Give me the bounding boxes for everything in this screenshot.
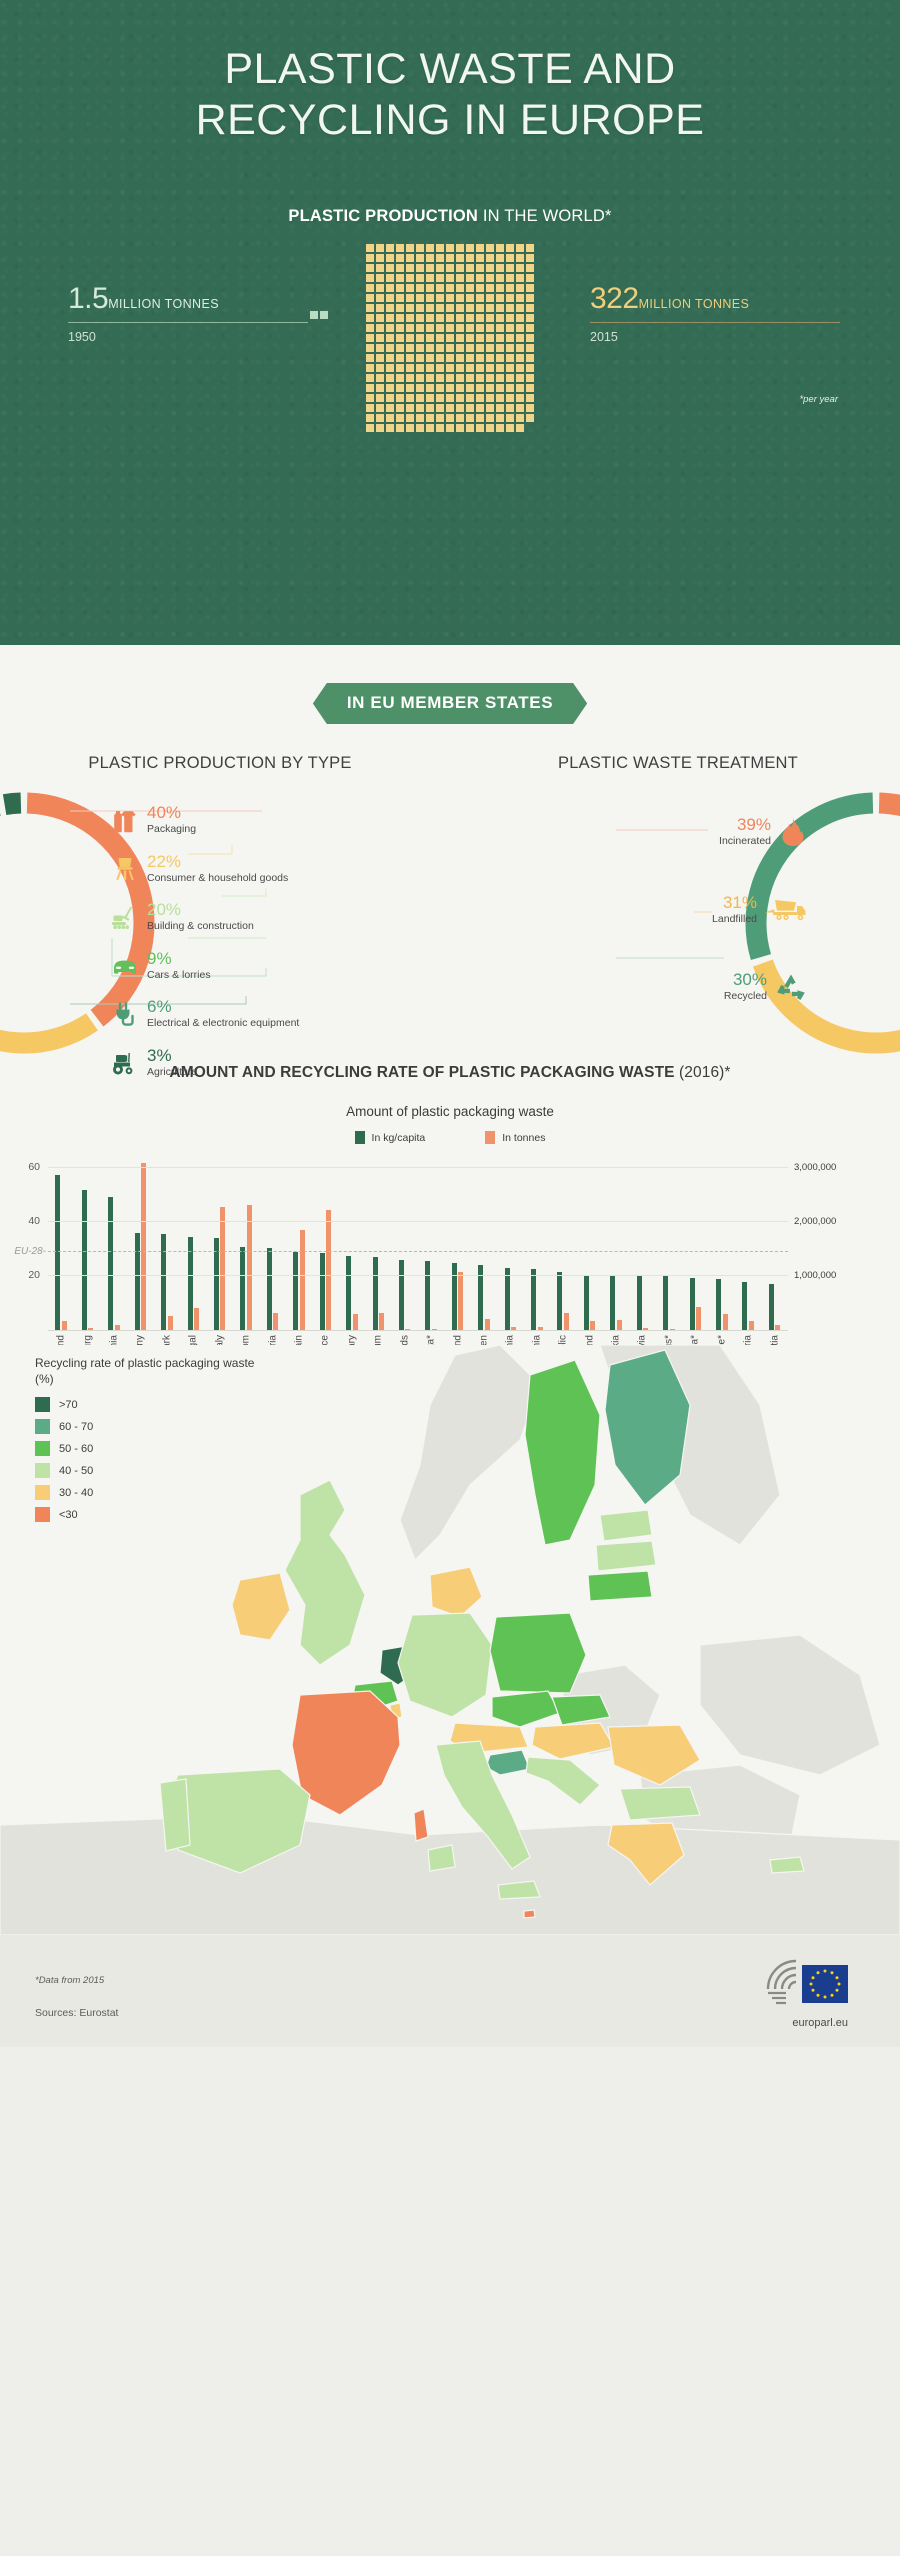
map-country-latvia [596, 1541, 656, 1571]
legend-text-landfilled: 31% Landfilled [712, 894, 757, 926]
chart-bar-group [471, 1156, 497, 1330]
map-legend-label: 60 - 70 [59, 1421, 93, 1433]
y-axis-tick-right: 2,000,000 [794, 1216, 894, 1227]
plastic-production-comparison: 1.5MILLION TONNES 1950 322MILLION TONNES… [0, 244, 900, 424]
map-legend-swatch [35, 1419, 50, 1434]
map-country-sicily [498, 1881, 540, 1899]
bottle-bag-icon [110, 805, 140, 835]
chart-plot-area: 204060EU-28- 1,000,0002,000,0003,000,000… [0, 1156, 900, 1331]
divider-right [590, 322, 840, 323]
legend-text-recycled: 30% Recycled [724, 971, 767, 1003]
bar-tonnes [485, 1319, 490, 1330]
map-country-estonia [600, 1510, 652, 1541]
chart-bar-group [444, 1156, 470, 1330]
chart-bar-group [629, 1156, 655, 1330]
bar-tonnes [247, 1205, 252, 1330]
map-legend-swatch [35, 1485, 50, 1500]
bar-kg-per-capita [769, 1284, 774, 1330]
production-by-type-title: PLASTIC PRODUCTION BY TYPE [0, 754, 450, 773]
map-legend-item: <30 [35, 1507, 265, 1522]
y-axis-tick-left: 60 [0, 1161, 40, 1177]
chair-icon [110, 853, 140, 883]
bar-kg-per-capita [452, 1263, 457, 1330]
chart-bar-group [550, 1156, 576, 1330]
bar-tonnes [326, 1210, 331, 1330]
map-legend-item: 30 - 40 [35, 1485, 265, 1500]
production-1950-unit: MILLION TONNES [108, 297, 219, 311]
bar-kg-per-capita [267, 1248, 272, 1330]
legend-item-cars: 9% Cars & lorries [110, 950, 410, 982]
chart-bar-group [180, 1156, 206, 1330]
chart-plot [48, 1156, 788, 1331]
legend-label-electrical: Electrical & electronic equipment [147, 1017, 299, 1030]
map-legend-swatch [35, 1463, 50, 1478]
bar-tonnes [88, 1328, 93, 1330]
chart-title-main: AMOUNT AND RECYCLING RATE OF PLASTIC PAC… [169, 1064, 679, 1081]
bar-tonnes [696, 1307, 701, 1330]
eu-member-states-section: IN EU MEMBER STATES PLASTIC PRODUCTION B… [0, 645, 900, 2047]
bar-tonnes [432, 1329, 437, 1330]
legend-swatch-tonnes [485, 1131, 495, 1144]
y-axis-tick-right: 1,000,000 [794, 1270, 894, 1281]
hero-subtitle-bold: PLASTIC PRODUCTION [288, 207, 478, 225]
bar-kg-per-capita [214, 1238, 219, 1330]
bar-kg-per-capita [505, 1268, 510, 1330]
map-legend-swatch [35, 1441, 50, 1456]
per-year-footnote: *per year [799, 394, 838, 405]
bar-tonnes [749, 1321, 754, 1330]
bar-tonnes [405, 1329, 410, 1330]
production-1950-value: 1.5 [68, 282, 108, 315]
bar-kg-per-capita [240, 1247, 245, 1330]
donut-segment-0 [879, 803, 900, 1013]
chart-bar-group [735, 1156, 761, 1330]
chart-bar-group [656, 1156, 682, 1330]
footer: *Data from 2015 Sources: Eurostat [0, 1935, 900, 2047]
legend-label-tonnes: In tonnes [502, 1132, 545, 1144]
production-1950-squares [310, 311, 328, 319]
legend-pct-packaging: 40% [147, 803, 181, 822]
chart-bar-group [761, 1156, 787, 1330]
chart-bar-group [259, 1156, 285, 1330]
bar-kg-per-capita [135, 1233, 140, 1330]
map-country-portugal [160, 1779, 190, 1851]
ribbon-wrapper: IN EU MEMBER STATES [0, 645, 900, 724]
legend-pct-consumer-goods: 22% [147, 852, 181, 871]
recycling-rate-map-section: Recycling rate of plastic packaging wast… [0, 1345, 900, 1935]
production-2015-stat: 322MILLION TONNES 2015 [590, 282, 840, 344]
bar-kg-per-capita [557, 1272, 562, 1330]
map-legend-title: Recycling rate of plastic packaging wast… [35, 1355, 265, 1387]
car-icon [110, 951, 140, 981]
title-line-2: RECYCLING IN EUROPE [0, 95, 900, 146]
dumptruck-icon [764, 894, 808, 924]
legend-swatch-kg [355, 1131, 365, 1144]
map-country-poland [490, 1613, 586, 1693]
legend-item-landfilled: 31% Landfilled [558, 894, 808, 926]
eu28-label: EU-28- [2, 1246, 46, 1257]
map-country-lithuania [588, 1571, 652, 1601]
chart-legend-item-tonnes: In tonnes [485, 1131, 545, 1144]
map-country-cyprus [770, 1857, 804, 1873]
packaging-waste-chart-section: AMOUNT AND RECYCLING RATE OF PLASTIC PAC… [0, 1054, 900, 1331]
chart-bar-group [497, 1156, 523, 1330]
map-country-malta [524, 1910, 535, 1918]
production-1950-stat: 1.5MILLION TONNES 1950 [68, 282, 308, 344]
legend-item-building: 20% Building & construction [110, 901, 410, 933]
bar-tonnes [723, 1314, 728, 1330]
chart-title: AMOUNT AND RECYCLING RATE OF PLASTIC PAC… [0, 1064, 900, 1082]
footer-url: europarl.eu [792, 2017, 848, 2029]
legend-pct-incinerated: 39% [737, 815, 771, 834]
y-axis-tick-left: 20 [0, 1269, 40, 1285]
excavator-icon [110, 902, 140, 932]
map-legend: Recycling rate of plastic packaging wast… [35, 1355, 265, 1529]
bar-kg-per-capita [425, 1261, 430, 1330]
hero-subtitle: PLASTIC PRODUCTION IN THE WORLD* [0, 207, 900, 226]
bar-kg-per-capita [399, 1260, 404, 1330]
legend-pct-electrical: 6% [147, 997, 172, 1016]
chart-bar-group [154, 1156, 180, 1330]
footer-sources: Sources: Eurostat [35, 2007, 118, 2019]
map-legend-label: 30 - 40 [59, 1487, 93, 1499]
legend-label-packaging: Packaging [147, 823, 196, 836]
legend-label-kg: In kg/capita [372, 1132, 426, 1144]
bar-tonnes [538, 1327, 543, 1330]
bar-kg-per-capita [531, 1269, 536, 1330]
hero-subtitle-rest: IN THE WORLD* [478, 207, 612, 225]
map-country-sardinia [428, 1845, 455, 1871]
map-legend-item: 60 - 70 [35, 1419, 265, 1434]
map-legend-label: 40 - 50 [59, 1465, 93, 1477]
bar-kg-per-capita [663, 1276, 668, 1330]
bar-tonnes [511, 1327, 516, 1330]
map-legend-item: 50 - 60 [35, 1441, 265, 1456]
legend-text-incinerated: 39% Incinerated [719, 816, 771, 848]
chart-legend: In kg/capita In tonnes [0, 1131, 900, 1144]
production-by-type-panel: PLASTIC PRODUCTION BY TYPE [0, 754, 450, 1054]
map-country-bulgaria [620, 1787, 700, 1820]
bar-tonnes [379, 1313, 384, 1330]
chart-bar-group [603, 1156, 629, 1330]
waste-treatment-title: PLASTIC WASTE TREATMENT [456, 754, 900, 773]
bar-tonnes [141, 1163, 146, 1330]
legend-label-consumer-goods: Consumer & household goods [147, 872, 288, 885]
bar-kg-per-capita [716, 1279, 721, 1330]
chart-gridline-right [48, 1275, 788, 1276]
bar-kg-per-capita [55, 1175, 60, 1330]
eu28-reference-line [48, 1251, 788, 1252]
hero-section: PLASTIC WASTE AND RECYCLING IN EUROPE PL… [0, 0, 900, 645]
waste-treatment-panel: PLASTIC WASTE TREATMENT 39% Incinerated [450, 754, 900, 1054]
bar-tonnes [353, 1314, 358, 1330]
legend-pct-cars: 9% [147, 949, 172, 968]
legend-label-cars: Cars & lorries [147, 969, 211, 982]
bar-tonnes [62, 1321, 67, 1330]
chart-title-suffix: (2016)* [679, 1064, 731, 1081]
production-1950-year: 1950 [68, 330, 308, 344]
production-2015-squares [366, 244, 534, 432]
production-2015-year: 2015 [590, 330, 840, 344]
chart-legend-item-kg: In kg/capita [355, 1131, 426, 1144]
chart-bar-group [127, 1156, 153, 1330]
donut-charts-row: PLASTIC PRODUCTION BY TYPE [0, 754, 900, 1054]
bar-tonnes [564, 1313, 569, 1330]
chart-gridline-right [48, 1221, 788, 1222]
bar-kg-per-capita [637, 1275, 642, 1330]
bar-tonnes [617, 1320, 622, 1330]
legend-pct-landfilled: 31% [723, 893, 757, 912]
bar-kg-per-capita [584, 1275, 589, 1330]
legend-item-consumer-goods: 22% Consumer & household goods [110, 853, 410, 885]
bar-tonnes [168, 1316, 173, 1330]
chart-bar-group [365, 1156, 391, 1330]
bar-kg-per-capita [108, 1197, 113, 1330]
legend-text-building: 20% Building & construction [147, 901, 254, 933]
map-legend-swatch [35, 1397, 50, 1412]
legend-label-incinerated: Incinerated [719, 835, 771, 848]
donut-segment-5 [5, 803, 21, 805]
chart-bar-group [101, 1156, 127, 1330]
map-legend-swatch [35, 1507, 50, 1522]
chart-bar-group [312, 1156, 338, 1330]
footer-note: *Data from 2015 [35, 1975, 104, 1986]
bar-kg-per-capita [610, 1275, 615, 1330]
chart-bar-group [233, 1156, 259, 1330]
legend-item-recycled: 30% Recycled [558, 971, 808, 1003]
production-by-type-legend: 40% Packaging [110, 804, 410, 1096]
bar-kg-per-capita [293, 1252, 298, 1330]
chart-bar-group [74, 1156, 100, 1330]
section-ribbon: IN EU MEMBER STATES [313, 683, 587, 724]
bar-kg-per-capita [161, 1234, 166, 1330]
chart-subtitle: Amount of plastic packaging waste [0, 1104, 900, 1119]
legend-label-landfilled: Landfilled [712, 913, 757, 926]
european-parliament-logo [738, 1953, 858, 2015]
map-legend-label: 50 - 60 [59, 1443, 93, 1455]
map-legend-item: >70 [35, 1397, 265, 1412]
legend-label-recycled: Recycled [724, 990, 767, 1003]
bar-tonnes [115, 1325, 120, 1330]
production-2015-value: 322 [590, 282, 639, 315]
bar-tonnes [458, 1272, 463, 1330]
bar-tonnes [670, 1329, 675, 1330]
legend-item-packaging: 40% Packaging [110, 804, 410, 836]
bar-kg-per-capita [742, 1282, 747, 1330]
legend-text-consumer-goods: 22% Consumer & household goods [147, 853, 288, 885]
chart-bar-group [48, 1156, 74, 1330]
y-axis-tick-left: 40 [0, 1215, 40, 1231]
map-legend-label: >70 [59, 1399, 78, 1411]
chart-bar-group [524, 1156, 550, 1330]
chart-bar-group [391, 1156, 417, 1330]
waste-treatment-legend: 39% Incinerated 31% Landfilled [558, 816, 808, 1049]
legend-text-cars: 9% Cars & lorries [147, 950, 211, 982]
chart-bar-group [339, 1156, 365, 1330]
chart-bar-group [207, 1156, 233, 1330]
chart-bars [48, 1156, 788, 1330]
recycle-icon [774, 972, 808, 1002]
plug-icon [110, 999, 140, 1029]
bar-tonnes [775, 1325, 780, 1330]
y-axis-tick-right: 3,000,000 [794, 1162, 894, 1173]
flame-icon [778, 817, 808, 847]
legend-pct-building: 20% [147, 900, 181, 919]
legend-item-electrical: 6% Electrical & electronic equipment [110, 998, 410, 1030]
chart-gridline-right [48, 1167, 788, 1168]
map-legend-item: 40 - 50 [35, 1463, 265, 1478]
bar-kg-per-capita [346, 1256, 351, 1330]
chart-bar-group [576, 1156, 602, 1330]
map-legend-rows: >7060 - 7050 - 6040 - 5030 - 40<30 [35, 1397, 265, 1522]
chart-bar-group [682, 1156, 708, 1330]
legend-text-packaging: 40% Packaging [147, 804, 196, 836]
legend-item-incinerated: 39% Incinerated [558, 816, 808, 848]
bar-kg-per-capita [82, 1190, 87, 1330]
bar-tonnes [643, 1328, 648, 1330]
page-title: PLASTIC WASTE AND RECYCLING IN EUROPE [0, 0, 900, 145]
bar-kg-per-capita [373, 1257, 378, 1330]
chart-bar-group [709, 1156, 735, 1330]
bar-kg-per-capita [320, 1253, 325, 1330]
bar-tonnes [220, 1207, 225, 1330]
bar-tonnes [300, 1230, 305, 1330]
chart-bar-group [418, 1156, 444, 1330]
legend-label-building: Building & construction [147, 920, 254, 933]
bar-tonnes [590, 1321, 595, 1330]
map-legend-label: <30 [59, 1509, 78, 1521]
bar-tonnes [194, 1308, 199, 1330]
legend-pct-recycled: 30% [733, 970, 767, 989]
bar-tonnes [273, 1313, 278, 1330]
chart-bar-group [286, 1156, 312, 1330]
title-line-1: PLASTIC WASTE AND [0, 44, 900, 95]
legend-text-electrical: 6% Electrical & electronic equipment [147, 998, 299, 1030]
divider-left [68, 322, 308, 323]
bar-kg-per-capita [690, 1278, 695, 1331]
production-2015-unit: MILLION TONNES [639, 297, 750, 311]
